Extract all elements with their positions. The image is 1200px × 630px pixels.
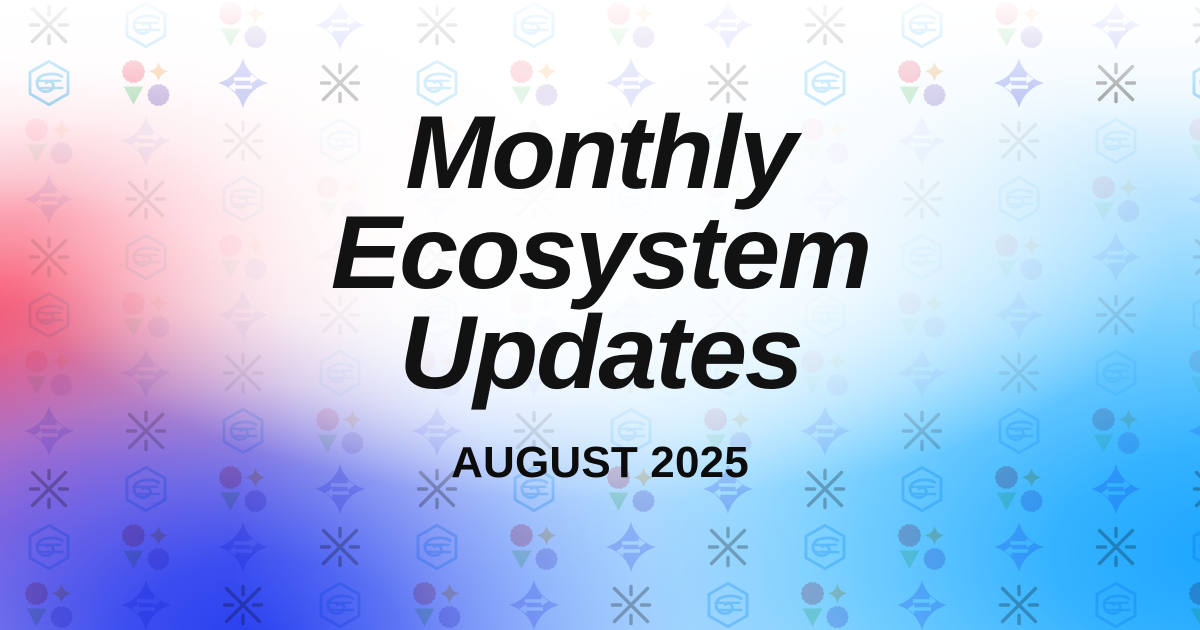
banner-content: Monthly Ecosystem Updates AUGUST 2025	[0, 0, 1200, 630]
subtitle-date: AUGUST 2025	[451, 441, 749, 485]
headline-line-3: Updates	[330, 304, 869, 404]
monthly-ecosystem-updates-banner: Monthly Ecosystem Updates AUGUST 2025	[0, 0, 1200, 630]
headline-line-2: Ecosystem	[330, 204, 869, 304]
headline-line-1: Monthly	[330, 104, 869, 204]
page-title: Monthly Ecosystem Updates	[330, 104, 869, 403]
